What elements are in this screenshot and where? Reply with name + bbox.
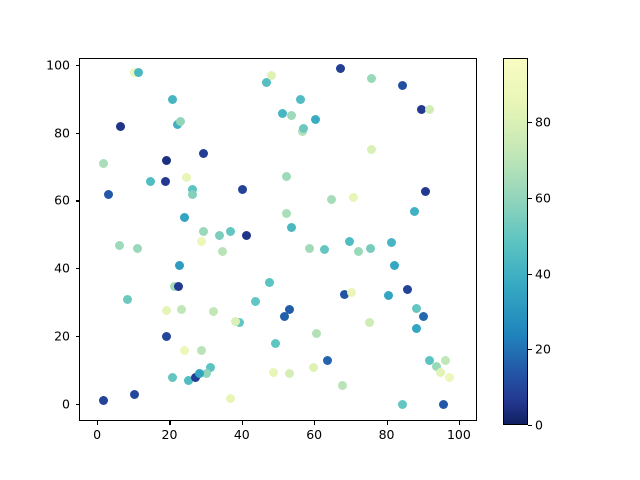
colorbar-gradient [503,58,528,425]
scatter-point [162,332,171,341]
scatter-point [425,105,434,114]
scatter-point [436,368,445,377]
scatter-point [180,346,189,355]
scatter-point [176,117,185,126]
scatter-points-layer [80,59,476,420]
scatter-point [251,297,260,306]
scatter-point [285,369,294,378]
x-tick-mark [169,421,170,425]
scatter-point [197,346,206,355]
scatter-point [419,312,428,321]
scatter-point [441,356,450,365]
scatter-point [282,209,291,218]
scatter-point [365,318,374,327]
scatter-point [180,213,189,222]
scatter-point [367,74,376,83]
colorbar-tick-mark [528,274,532,275]
y-tick-mark [76,65,80,66]
scatter-point [410,207,419,216]
scatter-point [367,145,376,154]
scatter-point [238,185,247,194]
scatter-point [174,282,183,291]
y-tick-mark [76,404,80,405]
scatter-point [175,261,184,270]
x-tick-mark [242,421,243,425]
scatter-point [226,227,235,236]
scatter-point [195,369,204,378]
scatter-point [398,81,407,90]
y-tick-mark [76,133,80,134]
colorbar-tick-label: 20 [535,342,551,357]
y-tick-label: 100 [30,57,70,72]
colorbar [503,58,528,425]
scatter-point [267,71,276,80]
scatter-point [282,172,291,181]
y-tick-label: 60 [30,193,70,208]
scatter-point [439,400,448,409]
colorbar-tick-label: 80 [535,115,551,130]
scatter-point [398,400,407,409]
colorbar-tick-mark [528,198,532,199]
scatter-point [188,190,197,199]
scatter-point [116,122,125,131]
scatter-point [412,304,421,313]
scatter-point [197,237,206,246]
y-tick-label: 0 [30,397,70,412]
x-tick-label: 60 [306,427,322,442]
scatter-point [311,115,320,124]
colorbar-tick-mark [528,349,532,350]
scatter-point [130,390,139,399]
scatter-point [162,306,171,315]
scatter-point [134,68,143,77]
y-tick-label: 80 [30,125,70,140]
scatter-point [354,247,363,256]
scatter-point [218,247,227,256]
scatter-point [347,288,356,297]
scatter-point [421,187,430,196]
scatter-point [177,305,186,314]
scatter-point [387,238,396,247]
scatter-point [168,373,177,382]
x-tick-mark [97,421,98,425]
scatter-plot-axes [79,58,477,421]
scatter-point [287,111,296,120]
scatter-point [265,278,274,287]
scatter-point [412,324,421,333]
scatter-point [269,368,278,377]
scatter-point [209,307,218,316]
scatter-point [161,177,170,186]
colorbar-tick-label: 40 [535,266,551,281]
x-tick-label: 40 [234,427,250,442]
scatter-point [162,156,171,165]
scatter-point [199,227,208,236]
y-tick-label: 20 [30,329,70,344]
x-tick-label: 100 [447,427,471,442]
scatter-point [104,190,113,199]
scatter-point [99,396,108,405]
scatter-point [199,149,208,158]
x-tick-mark [387,421,388,425]
scatter-point [323,356,332,365]
scatter-point [280,312,289,321]
scatter-point [146,177,155,186]
scatter-point [309,363,318,372]
matplotlib-figure: 020406080100 020406080100 020406080 [0,0,640,480]
y-tick-label: 40 [30,261,70,276]
scatter-point [320,245,329,254]
scatter-point [278,109,287,118]
y-tick-mark [76,200,80,201]
x-tick-label: 80 [379,427,395,442]
scatter-point [168,95,177,104]
scatter-point [182,173,191,182]
scatter-point [99,159,108,168]
y-axis-tick-labels: 020406080100 [28,0,70,480]
colorbar-tick-mark [528,425,532,426]
x-tick-label: 0 [93,427,101,442]
scatter-point [445,373,454,382]
scatter-point [242,231,251,240]
scatter-point [390,261,399,270]
scatter-point [305,244,314,253]
scatter-point [327,195,336,204]
scatter-point [403,285,412,294]
colorbar-tick-label: 60 [535,190,551,205]
x-tick-mark [314,421,315,425]
scatter-point [133,244,142,253]
scatter-point [226,394,235,403]
scatter-point [271,339,280,348]
colorbar-tick-mark [528,122,532,123]
x-tick-label: 20 [162,427,178,442]
colorbar-tick-label: 0 [535,418,543,433]
scatter-point [349,193,358,202]
scatter-point [123,295,132,304]
scatter-point [287,223,296,232]
y-tick-mark [76,268,80,269]
scatter-point [338,381,347,390]
scatter-point [336,64,345,73]
scatter-point [366,244,375,253]
scatter-point [115,241,124,250]
scatter-point [215,231,224,240]
scatter-point [312,329,321,338]
scatter-point [345,237,354,246]
scatter-point [296,95,305,104]
x-tick-mark [459,421,460,425]
y-tick-mark [76,336,80,337]
scatter-point [384,291,393,300]
